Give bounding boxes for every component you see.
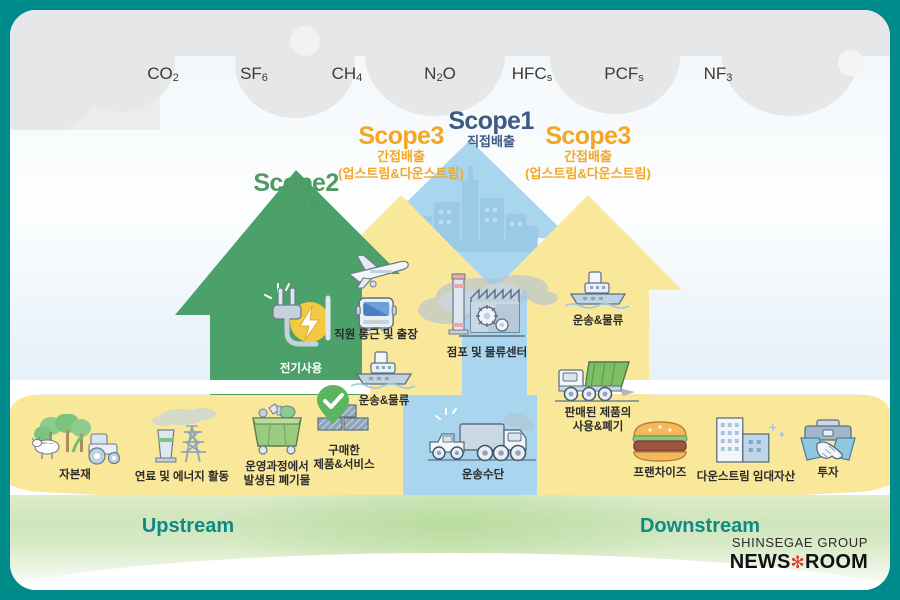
power-plant-icon xyxy=(136,408,228,468)
item-fuel-energy[interactable]: 연료 및 에너지 활동 xyxy=(135,408,229,484)
logo-line2: NEWS✻ROOM xyxy=(730,552,868,572)
item-downstream-leased[interactable]: 다운스트림 임대자산 xyxy=(697,414,795,484)
shinsegae-newsroom-logo: SHINSEGAE GROUP NEWS✻ROOM xyxy=(730,536,868,572)
item-transport-logistics-downstream[interactable]: 운송&물류 xyxy=(563,270,633,328)
upstream-label: Upstream xyxy=(142,515,234,538)
cargo-ship-icon xyxy=(563,270,633,312)
scope3-upstream-label: Scope3 간접배출 (업스트림&다운스트림) xyxy=(338,123,464,183)
item-fuel-energy-caption: 연료 및 에너지 활동 xyxy=(135,470,229,484)
item-commuting-travel-caption: 직원 통근 및 출장 xyxy=(334,328,418,342)
cow-icon xyxy=(32,437,59,459)
item-downstream-leased-caption: 다운스트림 임대자산 xyxy=(697,470,795,484)
scope1-label: Scope1 직접배출 xyxy=(448,108,533,151)
item-stores-logistics[interactable]: 점포 및 물류센터 xyxy=(439,268,535,360)
item-transport-logistics-downstream-caption: 운송&물류 xyxy=(563,314,633,328)
scope3-downstream-sub1: 간접배출 xyxy=(525,149,651,166)
item-electricity[interactable]: 전기사용 xyxy=(258,278,344,376)
gas-label-nf3: NF3 xyxy=(704,64,733,84)
scope3-upstream-sub2: (업스트림&다운스트림) xyxy=(338,166,464,183)
item-electricity-caption: 전기사용 xyxy=(258,362,344,376)
item-commuting-travel[interactable]: 직원 통근 및 출장 xyxy=(334,248,418,342)
scope1-title: Scope1 xyxy=(448,108,533,134)
cooling-tower-icon xyxy=(156,430,176,462)
cloud-puff-small xyxy=(290,26,320,56)
farm-tractor-icon xyxy=(29,414,121,466)
check-badge-icon xyxy=(315,385,351,425)
item-investment-caption: 투자 xyxy=(795,466,861,480)
plane-bus-icon xyxy=(337,248,415,334)
scope2-title: Scope2 xyxy=(253,170,338,196)
pylon-icon xyxy=(181,426,206,462)
truck-icon xyxy=(460,424,526,461)
item-capital-goods-caption: 자본재 xyxy=(29,468,121,482)
logo-room: ROOM xyxy=(805,551,868,573)
infographic-frame: CO2 SF6 CH4 N2O HFCs PCFs NF3 xyxy=(0,0,900,600)
scope2-label: Scope2 간접배출 xyxy=(253,170,338,213)
cargo-ship-icon xyxy=(349,350,419,392)
tractor-icon xyxy=(89,434,120,464)
scope3-downstream-sub2: (업스트림&다운스트림) xyxy=(525,166,651,183)
cloud-puff xyxy=(365,10,505,116)
item-capital-goods[interactable]: 자본재 xyxy=(29,414,121,482)
handshake-icon xyxy=(795,416,861,464)
airplane-icon xyxy=(349,255,408,288)
buildings-icon xyxy=(703,414,789,468)
sparkle-icon xyxy=(769,424,784,437)
trash-overflow-icon xyxy=(259,404,295,418)
gas-label-pcfs: PCFs xyxy=(604,64,644,84)
exhaust-icon xyxy=(503,413,535,431)
scope3-downstream-title: Scope3 xyxy=(525,123,651,149)
gas-label-hfcs: HFCs xyxy=(512,64,552,84)
item-purchased-goods-caption: 구매한 제품&서비스 xyxy=(292,444,396,473)
logo-line1: SHINSEGAE GROUP xyxy=(730,536,868,549)
item-transport-logistics-upstream[interactable]: 운송&물류 xyxy=(349,350,419,408)
item-stores-logistics-caption: 점포 및 물류센터 xyxy=(439,346,535,360)
cloud-puff-small xyxy=(838,50,864,76)
dump-truck-icon xyxy=(555,358,641,404)
scope3-downstream-label: Scope3 간접배출 (업스트림&다운스트림) xyxy=(525,123,651,183)
item-investment[interactable]: 투자 xyxy=(795,416,861,480)
item-transport-means[interactable]: 운송수단 xyxy=(428,408,538,482)
smokestack-icon xyxy=(449,274,468,334)
burger-icon xyxy=(628,418,692,464)
scope1-sub1: 직접배출 xyxy=(448,134,533,151)
gas-label-n2o: N2O xyxy=(424,64,456,84)
scope3-upstream-sub1: 간접배출 xyxy=(338,149,464,166)
item-transport-means-caption: 운송수단 xyxy=(428,468,538,482)
gas-label-co2: CO2 xyxy=(147,64,179,84)
logo-star-icon: ✻ xyxy=(791,553,805,572)
steam-icon xyxy=(152,408,216,426)
gas-label-ch4: CH4 xyxy=(332,64,363,84)
pickup-icon xyxy=(430,434,464,459)
scope2-sub1: 간접배출 xyxy=(253,196,338,213)
logo-news: NEWS xyxy=(730,551,791,573)
item-franchise[interactable]: 프랜차이즈 xyxy=(628,418,692,480)
item-franchise-caption: 프랜차이즈 xyxy=(628,466,692,480)
factory-icon xyxy=(439,268,535,344)
scope3-upstream-title: Scope3 xyxy=(338,123,464,149)
truck-car-icon xyxy=(428,408,538,466)
gas-label-sf6: SF6 xyxy=(240,64,268,84)
item-transport-logistics-upstream-caption: 운송&물류 xyxy=(349,394,419,408)
infographic-canvas: CO2 SF6 CH4 N2O HFCs PCFs NF3 xyxy=(10,10,890,590)
plug-energy-icon xyxy=(258,278,344,360)
bus-icon xyxy=(356,298,396,331)
cloud-puff xyxy=(65,12,175,112)
cloud-puff xyxy=(550,10,680,114)
